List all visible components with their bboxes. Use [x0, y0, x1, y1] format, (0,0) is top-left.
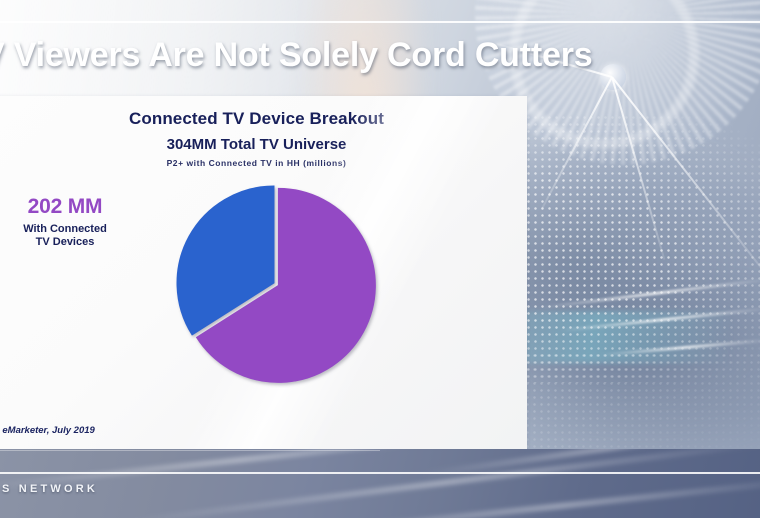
chart-units-note: P2+ with Connected TV in HH (millions) [0, 158, 527, 168]
network-name: GIS NETWORK [0, 483, 98, 495]
pie-chart-svg [140, 183, 400, 388]
footer-band [0, 449, 760, 518]
footer-streak [301, 476, 760, 518]
top-divider [0, 21, 760, 23]
callout-label-line2: TV Devices [10, 236, 120, 249]
chart-subtitle: 304MM Total TV Universe [0, 136, 527, 153]
chart-source: ce: eMarketer, July 2019 [0, 425, 95, 436]
footer-divider-top [0, 450, 380, 451]
chart-title: Connected TV Device Breakout [0, 109, 527, 129]
slide-canvas: V Viewers Are Not Solely Cord Cutters Co… [0, 0, 760, 518]
callout-connected-tv: 202 MM With Connected TV Devices [10, 196, 120, 250]
footer-divider [0, 472, 760, 474]
pie-chart: 66% [140, 183, 400, 388]
callout-value: 202 MM [10, 196, 120, 218]
callout-label-line1: With Connected [10, 223, 120, 236]
slide-title: V Viewers Are Not Solely Cord Cutters [0, 36, 592, 75]
